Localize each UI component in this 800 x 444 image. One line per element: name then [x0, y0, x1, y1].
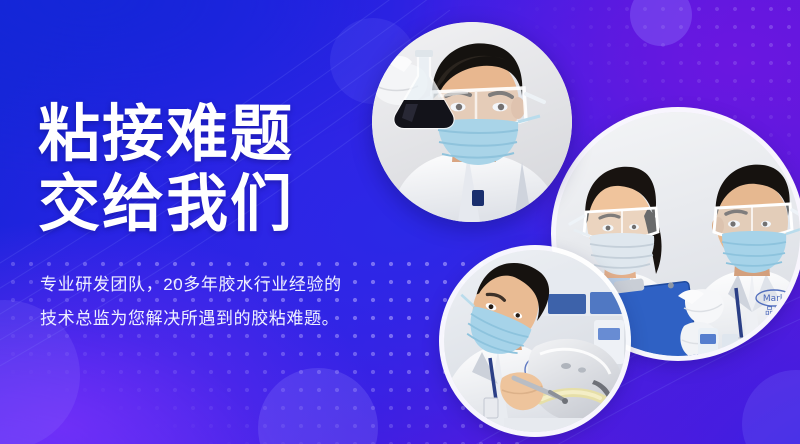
subtitle-line-2: 技术总监为您解决所遇到的胶粘难题。 — [40, 302, 398, 336]
headline-line-2-wrap: 交给我们 — [38, 170, 294, 240]
photo-technician-applying-adhesive: 缘 — [444, 250, 626, 432]
headline-line-2: 交给我们 — [38, 170, 294, 239]
banner-copy: 粘接难题 交给我们 专业研发团队，20多年胶水行业经验的 技术总监为您解决所遇到… — [38, 100, 398, 336]
headline-line-2-row: 交给我们 — [38, 170, 398, 240]
headline-line-1: 粘接难题 — [38, 100, 398, 170]
promo-banner: Mark 品牌 — [0, 0, 800, 444]
photo-researcher-holding-flask — [372, 22, 572, 222]
subtitle-line-1: 专业研发团队，20多年胶水行业经验的 — [40, 268, 398, 302]
